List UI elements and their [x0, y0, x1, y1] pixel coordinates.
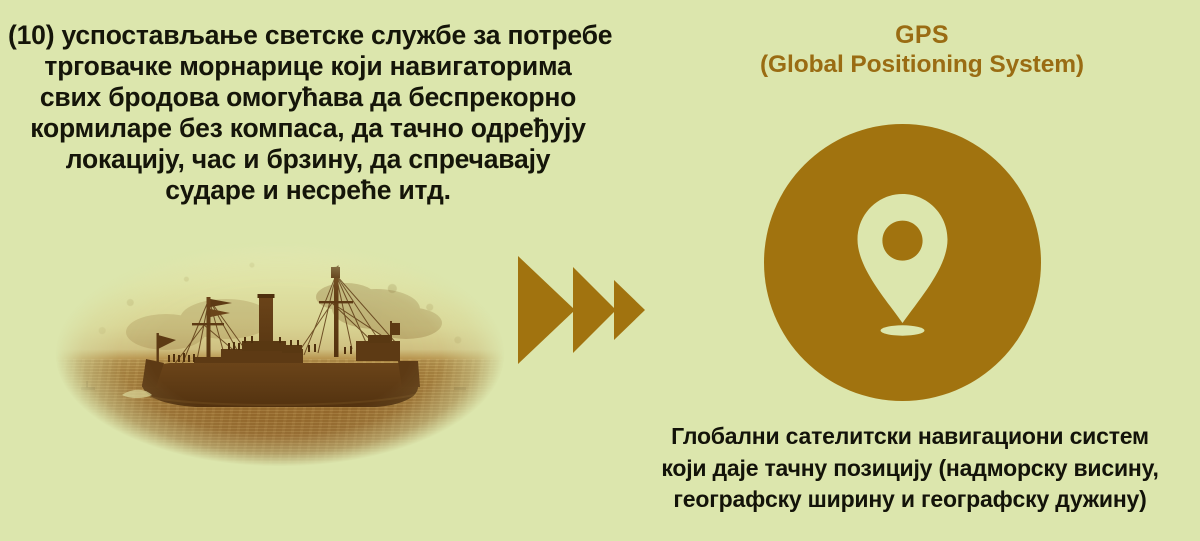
paragraph-line-4: кормиларе без компаса, да тачно одређују: [8, 113, 608, 144]
caption-line-3: географску ширину и географску дужину): [620, 484, 1200, 516]
gps-badge: [764, 124, 1041, 401]
arrow-triangle-medium: [573, 267, 616, 353]
caption-line-1: Глобални сателитски навигациони систем: [620, 421, 1200, 453]
paragraph-line-3: свих бродова омогућава да беспрекорно: [8, 82, 608, 113]
gps-expansion: (Global Positioning System): [652, 50, 1192, 80]
photo-vignette-mask: [46, 237, 514, 471]
gps-abbreviation: GPS: [652, 20, 1192, 50]
map-pin-icon: [764, 124, 1041, 401]
paragraph-line-1: (10) успостављање светске службе за потр…: [8, 20, 608, 51]
vintage-steamship-photograph: [46, 237, 514, 471]
steamship-silhouette: [46, 237, 514, 471]
arrows-svg: [513, 247, 663, 373]
progress-arrows: [513, 247, 663, 373]
arrow-triangle-small: [614, 280, 645, 340]
caption-line-2: који даје тачну позицију (надморску виси…: [620, 453, 1200, 485]
gps-caption: Глобални сателитски навигациони систем к…: [620, 421, 1200, 516]
paragraph-line-2: трговачке морнарице који навигаторима: [8, 51, 608, 82]
left-paragraph: (10) успостављање светске службе за потр…: [8, 20, 608, 206]
paragraph-line-6: сударе и несреће итд.: [8, 175, 608, 206]
pin-shadow-ellipse: [881, 325, 925, 335]
slide-canvas: (10) успостављање светске службе за потр…: [0, 0, 1200, 541]
arrow-triangle-large: [518, 256, 575, 364]
paragraph-line-5: локацију, час и брзину, да спречавају: [8, 144, 608, 175]
pin-teardrop: [858, 194, 948, 323]
gps-title-block: GPS (Global Positioning System): [652, 20, 1192, 80]
